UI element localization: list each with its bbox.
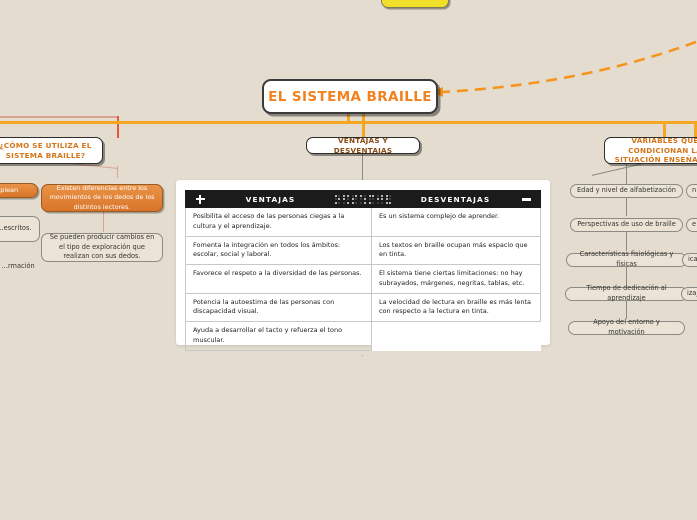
- left-node-diferencias[interactable]: Existen diferencias entre los movimiento…: [41, 184, 163, 212]
- left-node-cambios[interactable]: Se pueden producir cambios en el tipo de…: [41, 233, 163, 262]
- cell-disadvantage: Los textos en braille ocupan más espacio…: [372, 237, 540, 265]
- minus-icon: [511, 198, 541, 201]
- right-node-apoyo-label: Apoyo del entorno y motivación: [574, 318, 679, 337]
- table-row: Ayuda a desarrollar el tacto y refuerza …: [185, 322, 541, 351]
- right-node-caracteristicas-label: Características fisiológicas y físicas: [572, 250, 681, 269]
- right-clipped-node-4[interactable]: izaje: [681, 287, 697, 301]
- central-title-label: EL SISTEMA BRAILLE: [268, 89, 432, 105]
- right-clipped-node-2[interactable]: e: [686, 218, 697, 232]
- left-node-diferencias-label: Existen diferencias entre los movimiento…: [47, 184, 157, 212]
- connector-left-salmon: [0, 116, 118, 118]
- comparison-table: VENTAJAS DESVENTAJAS Posibilita el acces…: [185, 190, 541, 351]
- cell-disadvantage: La velocidad de lectura en braille es má…: [372, 294, 540, 322]
- mindmap-canvas: EL SISTEMA BRAILLE ¿CÓMO SE UTILIZA EL S…: [0, 0, 697, 520]
- right-clipped-node-1-label: n: [692, 186, 696, 196]
- right-node-caracteristicas[interactable]: Características fisiológicas y físicas: [566, 253, 687, 267]
- connector-right-sub-2: [626, 232, 627, 251]
- branch-header-uso[interactable]: ¿CÓMO SE UTILIZA EL SISTEMA BRAILLE?: [0, 137, 103, 164]
- cell-advantage: Fomenta la integración en todos los ámbi…: [186, 237, 372, 265]
- branch-header-variables[interactable]: VARIABLES QUE CONDICIONAN LA SITUACIÓN E…: [604, 137, 697, 164]
- braille-dots-icon: [326, 195, 400, 204]
- cell-advantage: Ayuda a desarrollar el tacto y refuerza …: [186, 322, 372, 351]
- table-header-desventajas: DESVENTAJAS: [400, 195, 511, 204]
- branch-header-uso-label: ¿CÓMO SE UTILIZA EL SISTEMA BRAILLE?: [0, 141, 97, 160]
- right-clipped-node-3-label: icas: [688, 255, 697, 265]
- plus-icon: [185, 195, 215, 204]
- ventajas-desventajas-panel: VENTAJAS DESVENTAJAS Posibilita el acces…: [176, 180, 550, 345]
- left-node-escritos-label: ...s para ...escritos.: [0, 224, 32, 234]
- central-title-node[interactable]: EL SISTEMA BRAILLE: [262, 79, 438, 114]
- right-node-tiempo-label: Tiempo de dedicación al aprendizaje: [571, 284, 682, 303]
- right-clipped-node-1[interactable]: n: [686, 184, 697, 198]
- connector-right-sub-1: [626, 197, 627, 216]
- dashed-arrow-to-title: [430, 40, 697, 105]
- cell-disadvantage: El sistema tiene ciertas limitaciones: n…: [372, 265, 540, 293]
- right-node-edad[interactable]: Edad y nivel de alfabetización: [570, 184, 683, 198]
- branch-header-ventajas-label: VENTAJAS Y DESVENTAJAS: [312, 136, 414, 155]
- table-row: Fomenta la integración en todos los ámbi…: [185, 237, 541, 266]
- right-node-perspectivas[interactable]: Perspectivas de uso de braille: [570, 218, 683, 232]
- right-clipped-node-3[interactable]: icas: [682, 253, 697, 267]
- cell-advantage: Posibilita el acceso de las personas cie…: [186, 208, 372, 236]
- left-node-emplean-label: ...mplean: [0, 186, 18, 195]
- branch-header-variables-label: VARIABLES QUE CONDICIONAN LA SITUACIÓN E…: [610, 136, 697, 165]
- right-node-edad-label: Edad y nivel de alfabetización: [577, 186, 676, 196]
- cell-advantage: Potencia la autoestima de las personas c…: [186, 294, 372, 322]
- table-row: Favorece el respeto a la diversidad de l…: [185, 265, 541, 294]
- table-row: Potencia la autoestima de las personas c…: [185, 294, 541, 323]
- right-node-tiempo[interactable]: Tiempo de dedicación al aprendizaje: [565, 287, 688, 301]
- right-node-perspectivas-label: Perspectivas de uso de braille: [577, 220, 676, 230]
- connector-left-drop: [117, 116, 119, 138]
- connector-right-sub-4: [626, 301, 627, 319]
- table-row: Posibilita el acceso de las personas cie…: [185, 208, 541, 237]
- right-clipped-node-2-label: e: [692, 220, 696, 230]
- left-node-escritos[interactable]: ...s para ...escritos.: [0, 216, 40, 242]
- cell-disadvantage: [372, 322, 541, 351]
- table-header-row: VENTAJAS DESVENTAJAS: [185, 190, 541, 208]
- top-yellow-node[interactable]: [381, 0, 449, 8]
- left-node-emplean[interactable]: ...mplean: [0, 183, 38, 198]
- left-node-informacion: ...ano son ...rmación: [0, 262, 36, 272]
- connector-center-drop: [362, 110, 365, 138]
- left-node-informacion-label: ...ano son ...rmación: [0, 262, 35, 270]
- cell-advantage: Favorece el respeto a la diversidad de l…: [186, 265, 372, 293]
- table-header-ventajas: VENTAJAS: [215, 195, 326, 204]
- right-node-apoyo[interactable]: Apoyo del entorno y motivación: [568, 321, 685, 335]
- connector-left-sub-c: [103, 210, 104, 232]
- panel-footer-marker: .: [361, 350, 363, 358]
- connector-right-sub-3: [626, 267, 627, 286]
- branch-header-ventajas[interactable]: VENTAJAS Y DESVENTAJAS: [306, 137, 420, 154]
- left-node-cambios-label: Se pueden producir cambios en el tipo de…: [47, 233, 157, 262]
- right-clipped-node-4-label: izaje: [687, 289, 697, 299]
- cell-disadvantage: Es un sistema complejo de aprender.: [372, 208, 540, 236]
